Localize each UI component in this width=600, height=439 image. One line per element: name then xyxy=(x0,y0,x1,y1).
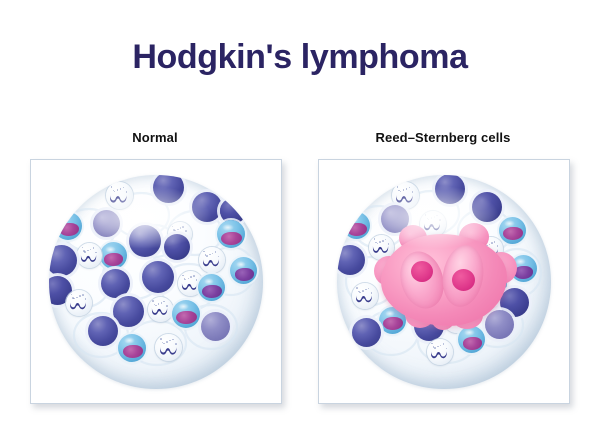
neutrophil-nucleus xyxy=(355,293,375,303)
granule xyxy=(403,189,405,191)
granule xyxy=(79,295,81,297)
granule xyxy=(409,187,411,189)
granule xyxy=(439,219,441,221)
granule xyxy=(431,217,433,219)
granule xyxy=(166,305,168,307)
eosinophil-nucleus xyxy=(59,223,79,236)
cell-highlight xyxy=(124,337,135,344)
blood-smear-reed-sternberg xyxy=(337,175,551,389)
granule xyxy=(359,292,361,294)
lymphocyte-cell xyxy=(192,192,222,222)
granule xyxy=(152,300,154,302)
granule xyxy=(443,343,445,345)
eosinophil-nucleus xyxy=(463,337,482,350)
eosinophil-cell xyxy=(172,300,200,328)
granule xyxy=(362,290,364,292)
neutrophil-cell xyxy=(66,290,92,316)
granule xyxy=(169,340,171,342)
granule xyxy=(412,191,414,193)
granule xyxy=(172,339,174,341)
eosinophil-nucleus xyxy=(347,223,366,236)
eosinophil-cell xyxy=(343,212,370,239)
neutrophil-nucleus xyxy=(202,257,222,267)
neutrophil-nucleus xyxy=(430,349,450,359)
panel-label-reed-sternberg: Reed–Sternberg cells xyxy=(318,130,568,145)
granule xyxy=(76,297,78,299)
cell-highlight xyxy=(236,261,247,268)
cell-highlight xyxy=(60,215,71,222)
panel-reed-sternberg xyxy=(318,159,570,404)
granule xyxy=(397,186,399,188)
granule xyxy=(358,291,360,293)
eosinophil-cell xyxy=(54,212,82,240)
granule xyxy=(425,214,427,216)
granule xyxy=(177,229,179,231)
granule xyxy=(82,247,84,249)
granule xyxy=(173,229,175,231)
granule xyxy=(215,251,217,253)
granule xyxy=(203,251,205,253)
eosinophil-nucleus xyxy=(235,268,254,281)
granule xyxy=(184,278,186,280)
granule xyxy=(356,287,358,289)
granule xyxy=(431,343,433,345)
granule xyxy=(193,275,195,277)
granule xyxy=(155,305,157,307)
cell-highlight xyxy=(105,246,116,253)
neutrophil-cell xyxy=(199,247,225,273)
granule xyxy=(163,343,165,345)
granule xyxy=(172,226,174,228)
granule xyxy=(434,216,436,218)
granule xyxy=(436,215,438,217)
neutrophil-nucleus xyxy=(181,281,200,291)
blood-smear-normal xyxy=(49,175,263,389)
granule xyxy=(434,347,436,349)
granule xyxy=(209,254,211,256)
granule xyxy=(120,188,122,190)
granule xyxy=(368,288,370,290)
granule xyxy=(182,275,184,277)
eosinophil-cell xyxy=(100,242,127,269)
neutrophil-cell xyxy=(427,339,453,365)
page-title: Hodgkin's lymphoma xyxy=(0,38,600,77)
granule xyxy=(160,338,162,340)
granule xyxy=(163,301,165,303)
eosinophil-cell xyxy=(458,326,485,353)
granule xyxy=(71,294,73,296)
granule xyxy=(123,187,125,189)
cell-highlight xyxy=(204,278,215,285)
granule xyxy=(175,343,177,345)
granule xyxy=(437,346,439,348)
granule xyxy=(161,302,163,304)
neutrophil-nucleus xyxy=(423,221,443,231)
granule xyxy=(158,303,160,305)
eosinophil-nucleus xyxy=(176,311,196,324)
lymphocyte-cell xyxy=(101,269,130,298)
eosinophil-nucleus xyxy=(202,285,221,298)
neutrophil-nucleus xyxy=(395,193,416,204)
cell-highlight xyxy=(178,303,189,310)
neutrophil-nucleus xyxy=(159,345,180,356)
granule xyxy=(212,253,214,255)
granule xyxy=(206,255,208,257)
neutrophil-nucleus xyxy=(69,300,89,310)
reed-sternberg-cell xyxy=(381,234,507,326)
lymphocyte-cell xyxy=(129,225,161,257)
granule xyxy=(82,294,84,296)
eosinophil-nucleus xyxy=(123,345,143,358)
eosinophil-nucleus xyxy=(221,232,241,245)
rs-nucleolus-right xyxy=(452,269,475,291)
figure-canvas: Hodgkin's lymphoma Normal Reed–Sternberg… xyxy=(0,0,600,439)
granule xyxy=(374,238,376,240)
lymphocyte-cell xyxy=(113,296,144,327)
granule xyxy=(188,278,190,280)
granule xyxy=(166,341,168,343)
cell-highlight xyxy=(222,224,233,231)
neutrophil-nucleus xyxy=(151,306,170,316)
granule xyxy=(90,249,92,251)
granule xyxy=(365,289,367,291)
lymphocyte-cell xyxy=(88,316,118,346)
granule xyxy=(83,250,85,252)
granule xyxy=(117,189,119,191)
neutrophil-nucleus xyxy=(109,193,130,204)
neutrophil-cell xyxy=(148,297,173,322)
cell-highlight xyxy=(348,216,359,223)
granule xyxy=(72,297,74,299)
panel-label-normal: Normal xyxy=(30,130,280,145)
cell-highlight xyxy=(504,220,515,227)
granule xyxy=(180,227,182,229)
cell-highlight xyxy=(464,329,475,336)
granule xyxy=(87,250,89,252)
eosinophil-nucleus xyxy=(104,253,123,266)
granule xyxy=(190,276,192,278)
granule xyxy=(406,188,408,190)
granule xyxy=(185,230,187,232)
granule xyxy=(111,186,113,188)
granule xyxy=(93,247,95,249)
granule xyxy=(182,226,184,228)
neutrophil-nucleus xyxy=(80,253,99,263)
lymphocyte-cell xyxy=(472,192,502,222)
rs-nucleolus-left xyxy=(411,261,433,282)
panel-normal xyxy=(30,159,282,404)
granule xyxy=(95,252,97,254)
granule xyxy=(440,345,442,347)
